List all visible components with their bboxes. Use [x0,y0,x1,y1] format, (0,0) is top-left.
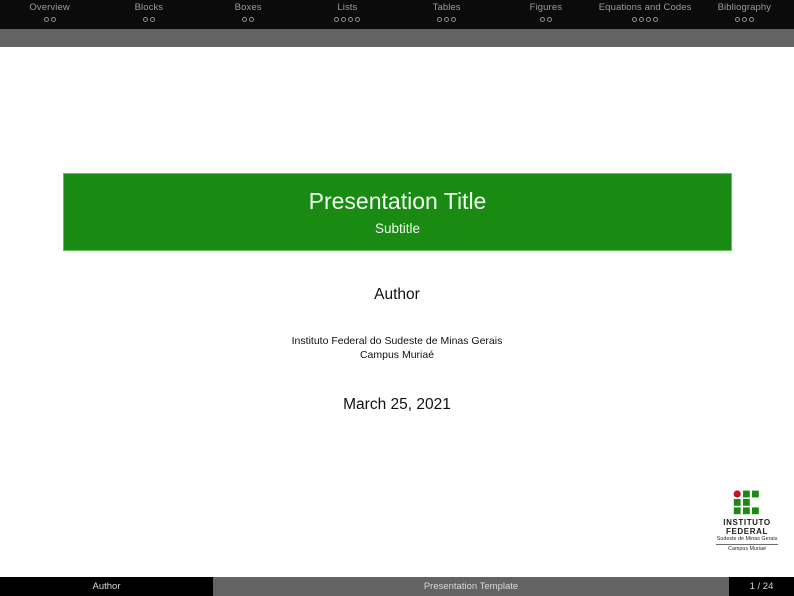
nav-slide-dot[interactable] [444,17,449,22]
nav-slide-dots [437,17,456,22]
nav-slide-dot[interactable] [355,17,360,22]
nav-slide-dot[interactable] [540,17,545,22]
nav-slide-dots [735,17,754,22]
nav-slide-dot[interactable] [249,17,254,22]
nav-section-equations-and-codes[interactable]: Equations and Codes [596,0,695,30]
nav-section-label: Boxes [235,2,262,14]
nav-slide-dots [143,17,155,22]
nav-slide-dot[interactable] [547,17,552,22]
nav-section-label: Lists [337,2,357,14]
logo-region: Sudeste de Minas Gerais [717,536,778,543]
institute-line-2: Campus Muriaé [0,349,794,363]
nav-section-label: Bibliography [718,2,771,14]
footer-page-number: 1 / 24 [729,577,794,596]
nav-section-figures[interactable]: Figures [496,0,595,30]
logo-institute-line-2: FEDERAL [726,528,768,537]
nav-slide-dot[interactable] [451,17,456,22]
nav-section-bibliography[interactable]: Bibliography [695,0,794,30]
nav-section-label: Equations and Codes [599,2,692,14]
nav-slide-dot[interactable] [632,17,637,22]
nav-slide-dot[interactable] [242,17,247,22]
nav-slide-dot[interactable] [150,17,155,22]
nav-section-overview[interactable]: Overview [0,0,99,30]
presentation-date: March 25, 2021 [0,394,794,416]
nav-section-lists[interactable]: Lists [298,0,397,30]
nav-section-tables[interactable]: Tables [397,0,496,30]
nav-slide-dot[interactable] [646,17,651,22]
nav-slide-dot[interactable] [334,17,339,22]
page-subtitle: Subtitle [375,220,420,238]
nav-slide-dot[interactable] [639,17,644,22]
nav-slide-dots [540,17,552,22]
nav-slide-dots [632,17,658,22]
institute-line-1: Instituto Federal do Sudeste de Minas Ge… [0,335,794,349]
headline-band [0,30,794,47]
logo-divider [716,544,778,545]
author-name: Author [0,284,794,306]
nav-slide-dot[interactable] [653,17,658,22]
footer-author: Author [0,577,213,596]
nav-slide-dot[interactable] [348,17,353,22]
institute-block: Instituto Federal do Sudeste de Minas Ge… [0,335,794,362]
nav-slide-dot[interactable] [341,17,346,22]
nav-slide-dots [242,17,254,22]
if-logo-mark-icon [732,490,762,516]
title-block: Presentation Title Subtitle [63,173,732,251]
nav-slide-dots [44,17,56,22]
navigation-bar: Overview Blocks Boxes Lists Tables [0,0,794,30]
nav-slide-dot[interactable] [51,17,56,22]
logo-campus: Campus Muriaé [728,546,766,553]
nav-section-label: Figures [530,2,562,14]
page-title: Presentation Title [309,187,487,215]
institution-logo: INSTITUTO FEDERAL Sudeste de Minas Gerai… [700,490,794,556]
nav-section-boxes[interactable]: Boxes [199,0,298,30]
footer-presentation-title: Presentation Template [213,577,729,596]
nav-section-blocks[interactable]: Blocks [99,0,198,30]
nav-slide-dots [334,17,360,22]
nav-slide-dot[interactable] [437,17,442,22]
nav-slide-dot[interactable] [749,17,754,22]
nav-section-label: Overview [29,2,69,14]
footer-bar: Author Presentation Template 1 / 24 [0,577,794,596]
nav-slide-dot[interactable] [742,17,747,22]
nav-slide-dot[interactable] [44,17,49,22]
nav-slide-dot[interactable] [143,17,148,22]
nav-section-label: Tables [433,2,461,14]
nav-slide-dot[interactable] [735,17,740,22]
nav-section-label: Blocks [135,2,164,14]
